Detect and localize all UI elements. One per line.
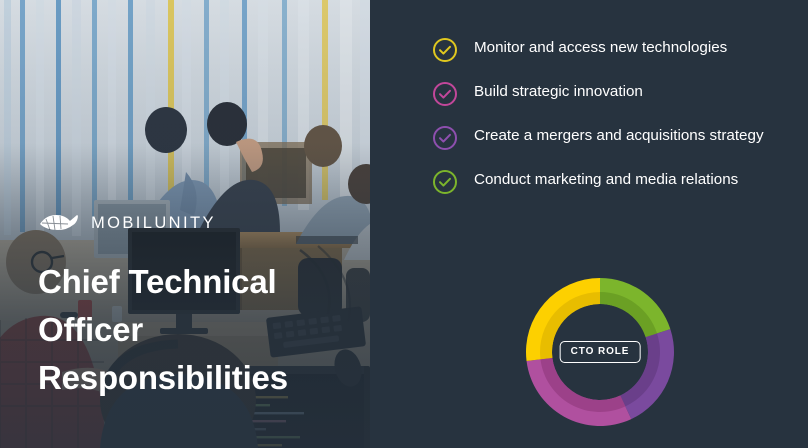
page-title: Chief Technical Officer Responsibilities [38,258,338,402]
brand-logo[interactable]: MOBILUNITY [38,210,216,236]
list-item: Create a mergers and acquisitions strate… [432,124,792,151]
list-item-label: Create a mergers and acquisitions strate… [474,124,764,148]
logo-text: MOBILUNITY [91,214,216,233]
list-item: Monitor and access new technologies [432,36,792,63]
list-item-label: Monitor and access new technologies [474,36,727,60]
content-panel: Monitor and access new technologies Buil… [370,0,808,448]
check-circle-icon [432,81,458,107]
responsibilities-list: Monitor and access new technologies Buil… [432,36,792,212]
cto-role-donut-chart: CTO ROLE [520,272,680,432]
check-circle-icon [432,37,458,63]
list-item: Build strategic innovation [432,80,792,107]
office-photo-panel: MOBILUNITY Chief Technical Officer Respo… [0,0,370,448]
mobilunity-whale-logo-icon [38,210,80,236]
list-item: Conduct marketing and media relations [432,168,792,195]
chart-center-label: CTO ROLE [560,341,641,363]
cto-responsibilities-banner: MOBILUNITY Chief Technical Officer Respo… [0,0,808,448]
check-circle-icon [432,169,458,195]
list-item-label: Build strategic innovation [474,80,643,104]
list-item-label: Conduct marketing and media relations [474,168,738,192]
check-circle-icon [432,125,458,151]
